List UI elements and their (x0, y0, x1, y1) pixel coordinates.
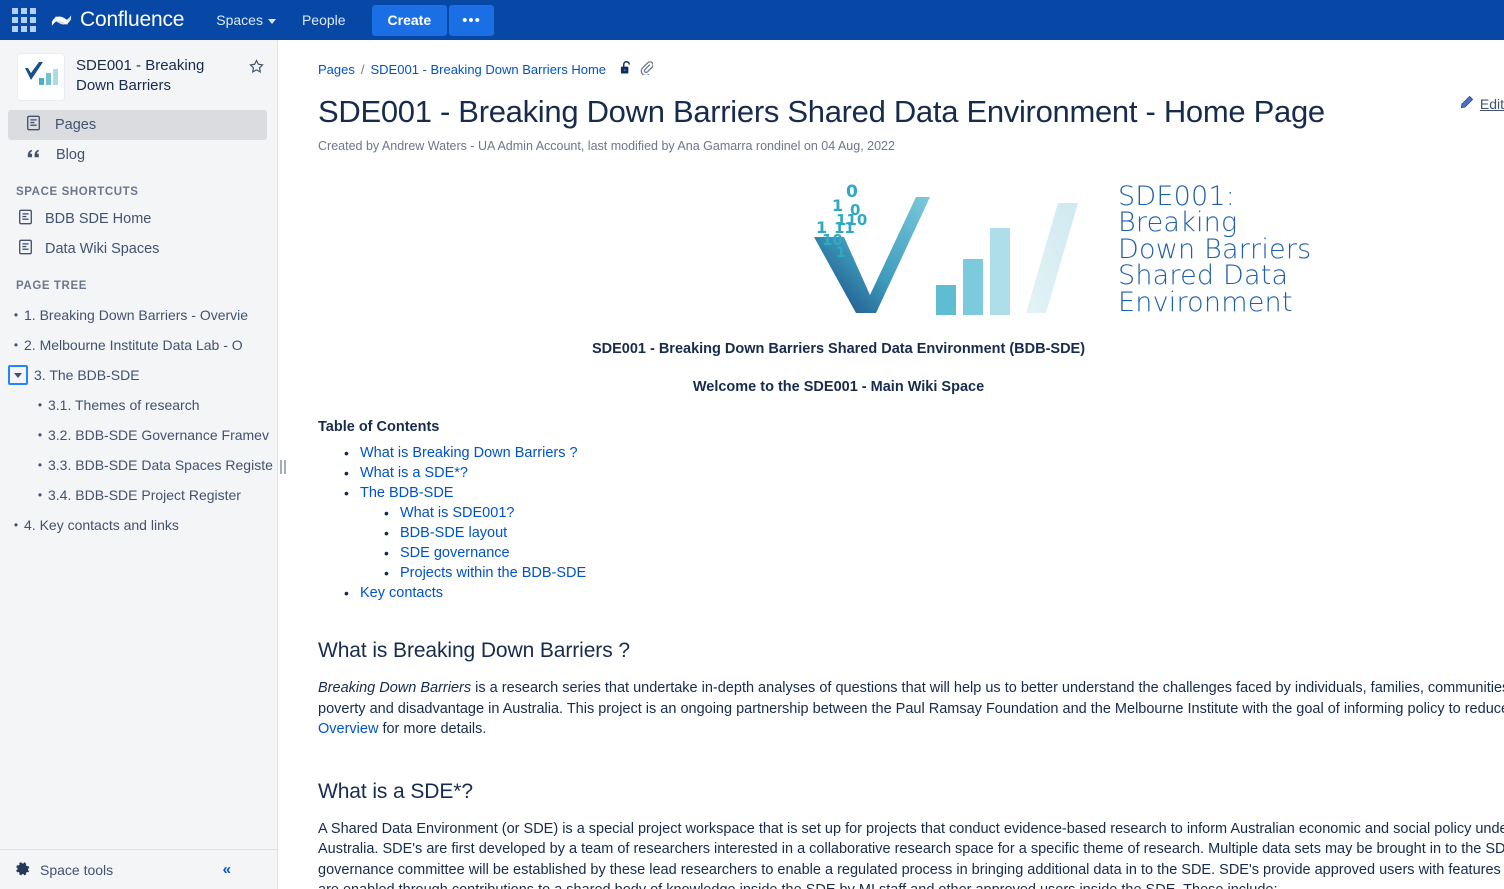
section-paragraph-1: Breaking Down Barriers is a research ser… (318, 678, 1504, 740)
nav-spaces-label: Spaces (216, 12, 263, 28)
page-icon (26, 115, 41, 135)
toc-item[interactable]: •What is Breaking Down Barriers ? (360, 443, 1504, 463)
section-paragraph-2: A Shared Data Environment (or SDE) is a … (318, 819, 1504, 889)
chevron-down-icon[interactable] (8, 365, 28, 385)
intro-heading-2: Welcome to the SDE001 - Main Wiki Space (318, 379, 1504, 395)
paperclip-icon[interactable] (640, 60, 653, 78)
toc-item[interactable]: •The BDB-SDE •What is SDE001? •BDB-SDE l… (360, 483, 1504, 583)
page-icon (18, 209, 33, 229)
tree-item-3-the-bdb-sde[interactable]: 3. The BDB-SDE (0, 360, 277, 390)
collapse-sidebar-button[interactable]: « (223, 861, 261, 878)
star-icon[interactable] (248, 54, 265, 80)
space-title[interactable]: SDE001 - Breaking Down Barriers (76, 54, 236, 96)
page-byline: Created by Andrew Waters - UA Admin Acco… (318, 139, 1504, 153)
toc-subitem[interactable]: •SDE governance (400, 543, 1504, 563)
toc-link-what-is-sde001[interactable]: What is SDE001? (400, 505, 514, 521)
para-italic-lead: Breaking Down Barriers (318, 680, 471, 696)
edit-button-label: Edit (1480, 96, 1504, 112)
section-heading-what-is-a-sde: What is a SDE*? (318, 780, 1504, 804)
quote-icon (26, 146, 42, 164)
sidebar-resize-handle[interactable] (279, 458, 287, 476)
sidebar-item-blog-label: Blog (56, 148, 85, 163)
toc-subitem[interactable]: •BDB-SDE layout (400, 523, 1504, 543)
breadcrumb-current-link[interactable]: SDE001 - Breaking Down Barriers Home (371, 62, 607, 77)
toc-link-what-is-a-sde[interactable]: What is a SDE*? (360, 465, 468, 481)
space-header: SDE001 - Breaking Down Barriers (0, 40, 277, 110)
intro-heading-1: SDE001 - Breaking Down Barriers Shared D… (318, 341, 1504, 357)
tree-item-label: 3.4. BDB-SDE Project Register (48, 487, 241, 503)
pencil-icon (1459, 95, 1474, 113)
tree-item-3-4-bdb-sde-project-register[interactable]: • 3.4. BDB-SDE Project Register (0, 480, 277, 510)
toc-subitem[interactable]: •Projects within the BDB-SDE (400, 563, 1504, 583)
toc-link-sde-governance[interactable]: SDE governance (400, 545, 510, 561)
toc-subitem[interactable]: •What is SDE001? (400, 503, 1504, 523)
tree-item-1-breaking-down-barriers-overview[interactable]: • 1. Breaking Down Barriers - Overvie (0, 300, 277, 330)
breadcrumb-separator: / (361, 62, 365, 77)
space-tools-label: Space tools (40, 862, 113, 878)
bullet-icon: • (8, 338, 24, 352)
page-title: SDE001 - Breaking Down Barriers Shared D… (318, 94, 1504, 130)
toc-link-key-contacts[interactable]: Key contacts (360, 585, 443, 601)
para-body: is a research series that undertake in-d… (318, 680, 1504, 717)
bullet-icon: • (344, 463, 349, 483)
toc-link-what-is-breaking-down-barriers[interactable]: What is Breaking Down Barriers ? (360, 445, 578, 461)
bullet-icon: • (344, 583, 349, 603)
toc-item[interactable]: •Key contacts (360, 583, 1504, 603)
table-of-contents: •What is Breaking Down Barriers ? •What … (318, 443, 1504, 603)
bullet-icon: • (384, 523, 389, 543)
toc-item[interactable]: •What is a SDE*? (360, 463, 1504, 483)
toc-link-bdb-sde-layout[interactable]: BDB-SDE layout (400, 525, 507, 541)
section-heading-what-is-breaking-down-barriers: What is Breaking Down Barriers ? (318, 639, 1504, 663)
edit-button[interactable]: Edit (1459, 95, 1504, 113)
space-sidebar: SDE001 - Breaking Down Barriers Pages Bl… (0, 40, 278, 889)
tree-item-3-3-bdb-sde-data-spaces-register[interactable]: • 3.3. BDB-SDE Data Spaces Registe (0, 450, 277, 480)
bullet-icon: • (8, 308, 24, 322)
banner-line-2: Breaking (1118, 210, 1311, 237)
nav-spaces[interactable]: Spaces (206, 6, 286, 34)
page-banner: 0 1 0 110 1 11 10 1 (318, 175, 1504, 325)
page-tree-heading: PAGE TREE (0, 264, 277, 298)
bullet-icon: • (384, 563, 389, 583)
tree-item-label: 3.2. BDB-SDE Governance Framev (48, 427, 269, 443)
bdb-sde-logo-icon: 0 1 0 110 1 11 10 1 (808, 175, 1108, 325)
sidebar-item-blog[interactable]: Blog (8, 140, 267, 170)
breadcrumb-pages-link[interactable]: Pages (318, 62, 355, 77)
bullet-icon: • (32, 428, 48, 442)
breadcrumb: Pages / SDE001 - Breaking Down Barriers … (318, 60, 1504, 78)
tree-item-3-1-themes-of-research[interactable]: • 3.1. Themes of research (0, 390, 277, 420)
confluence-mark-icon (50, 9, 73, 32)
page-tree: • 1. Breaking Down Barriers - Overvie • … (0, 298, 277, 540)
bullet-icon: • (8, 518, 24, 532)
sidebar-shortcut-bdb-sde-home[interactable]: BDB SDE Home (0, 204, 277, 234)
banner-line-4: Shared Data (1118, 263, 1311, 290)
gear-icon (16, 862, 31, 877)
unlocked-padlock-icon[interactable] (620, 60, 633, 78)
toc-link-projects-within-the-bdb-sde[interactable]: Projects within the BDB-SDE (400, 565, 586, 581)
tree-item-label: 1. Breaking Down Barriers - Overvie (24, 307, 248, 323)
toc-title: Table of Contents (318, 419, 1504, 435)
sidebar-shortcut-label: Data Wiki Spaces (45, 241, 159, 257)
nav-people-label: People (302, 12, 346, 28)
tree-item-2-melbourne-institute-data-lab[interactable]: • 2. Melbourne Institute Data Lab - O (0, 330, 277, 360)
svg-text:0: 0 (846, 182, 858, 202)
tree-item-label: 4. Key contacts and links (24, 517, 179, 533)
nav-people[interactable]: People (292, 6, 356, 34)
brand-label: Confluence (80, 8, 184, 32)
bullet-icon: • (32, 488, 48, 502)
tree-item-label: 3.1. Themes of research (48, 397, 199, 413)
breadcrumb-icons (620, 60, 653, 78)
main-content: Pages / SDE001 - Breaking Down Barriers … (278, 40, 1504, 889)
bullet-icon: • (32, 398, 48, 412)
create-button-group: Create ••• (372, 5, 494, 36)
chevron-down-icon (268, 19, 276, 24)
banner-line-5: Environment (1118, 290, 1311, 317)
tree-item-label: 3. The BDB-SDE (34, 367, 140, 383)
bullet-icon: • (384, 503, 389, 523)
space-avatar-icon (18, 54, 64, 100)
page-icon (18, 239, 33, 259)
sidebar-shortcut-label: BDB SDE Home (45, 211, 151, 227)
sidebar-shortcut-data-wiki-spaces[interactable]: Data Wiki Spaces (0, 234, 277, 264)
tree-item-label: 3.3. BDB-SDE Data Spaces Registe (48, 457, 273, 473)
bullet-icon: • (384, 543, 389, 563)
para-tail: for more details. (378, 721, 486, 737)
app-grid-icon[interactable] (8, 4, 40, 36)
confluence-logo[interactable]: Confluence (50, 8, 184, 32)
toc-link-the-bdb-sde[interactable]: The BDB-SDE (360, 485, 453, 501)
svg-text:1: 1 (836, 245, 846, 261)
sidebar-item-pages[interactable]: Pages (8, 110, 267, 140)
banner-title-text: SDE001: Breaking Down Barriers Shared Da… (1118, 184, 1311, 317)
top-navigation-bar: Confluence Spaces People Create ••• (0, 0, 1504, 40)
space-shortcuts-heading: SPACE SHORTCUTS (0, 170, 277, 204)
bullet-icon: • (344, 483, 349, 503)
tree-item-4-key-contacts-and-links[interactable]: • 4. Key contacts and links (0, 510, 277, 540)
more-options-button[interactable]: ••• (449, 5, 494, 36)
tree-item-3-2-bdb-sde-governance-framework[interactable]: • 3.2. BDB-SDE Governance Framev (0, 420, 277, 450)
create-button[interactable]: Create (372, 5, 448, 36)
bullet-icon: • (32, 458, 48, 472)
space-tools-button[interactable]: Space tools « (0, 849, 277, 889)
sidebar-item-pages-label: Pages (55, 118, 96, 133)
tree-item-label: 2. Melbourne Institute Data Lab - O (24, 337, 243, 353)
bullet-icon: • (344, 443, 349, 463)
